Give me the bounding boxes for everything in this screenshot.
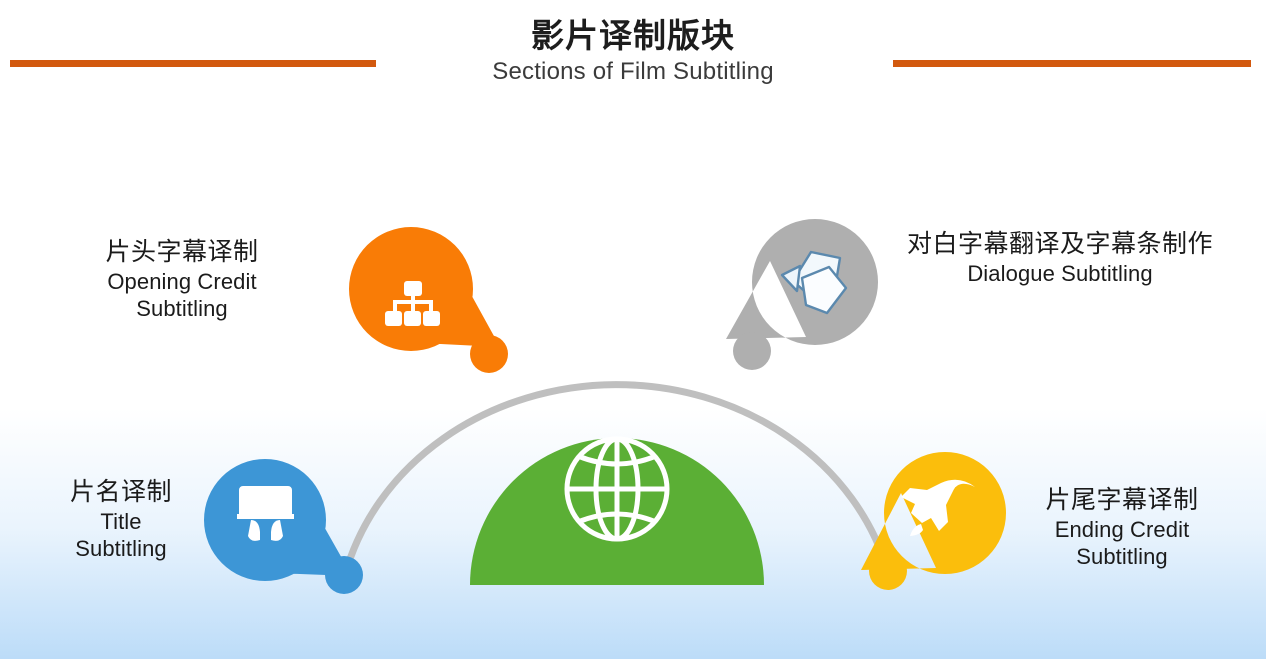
node-title-dot[interactable] <box>325 556 363 594</box>
label-title-en2: Subtitling <box>20 535 222 563</box>
node-dialogue[interactable] <box>726 219 878 370</box>
center-dome <box>470 438 764 585</box>
label-title: 片名译制 Title Subtitling <box>20 476 222 563</box>
node-opening-credit-dot[interactable] <box>470 335 508 373</box>
rocket-window-icon <box>955 487 960 492</box>
slide-canvas: 影片译制版块 Sections of Film Subtitling <box>0 0 1266 659</box>
label-ending-credit: 片尾字幕译制 Ending Credit Subtitling <box>1022 484 1222 571</box>
label-ending-credit-cn: 片尾字幕译制 <box>1022 484 1222 516</box>
label-title-en1: Title <box>20 508 222 536</box>
node-dialogue-dot[interactable] <box>733 332 771 370</box>
label-ending-credit-en2: Subtitling <box>1022 543 1222 571</box>
label-opening-credit-cn: 片头字幕译制 <box>62 236 302 268</box>
node-ending-credit-dot[interactable] <box>869 552 907 590</box>
node-title[interactable] <box>204 459 363 594</box>
globe-icon <box>567 439 667 539</box>
node-opening-credit[interactable] <box>349 227 508 373</box>
label-opening-credit-en1: Opening Credit <box>62 268 302 296</box>
node-opening-credit-pin[interactable] <box>349 227 500 351</box>
label-opening-credit: 片头字幕译制 Opening Credit Subtitling <box>62 236 302 323</box>
label-opening-credit-en2: Subtitling <box>62 295 302 323</box>
label-dialogue: 对白字幕翻译及字幕条制作 Dialogue Subtitling <box>888 228 1232 287</box>
label-title-cn: 片名译制 <box>20 476 222 508</box>
label-ending-credit-en1: Ending Credit <box>1022 516 1222 544</box>
label-dialogue-en1: Dialogue Subtitling <box>888 260 1232 288</box>
node-ending-credit[interactable] <box>861 452 1006 590</box>
label-dialogue-cn: 对白字幕翻译及字幕条制作 <box>888 228 1232 260</box>
